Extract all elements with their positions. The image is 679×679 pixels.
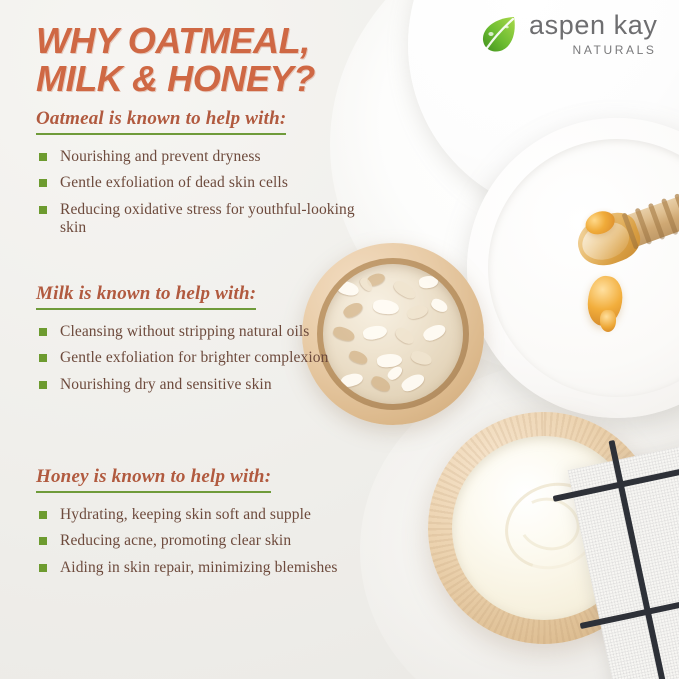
benefit-list-milk: Cleansing without stripping natural oils… — [36, 323, 366, 394]
list-item: Reducing oxidative stress for youthful-l… — [36, 201, 366, 238]
list-item-label: Reducing oxidative stress for youthful-l… — [60, 201, 355, 236]
list-item: Gentle exfoliation of dead skin cells — [36, 174, 366, 192]
list-item: Nourishing and prevent dryness — [36, 148, 366, 166]
list-item: Nourishing dry and sensitive skin — [36, 376, 366, 394]
list-item: Hydrating, keeping skin soft and supple — [36, 506, 366, 524]
bullet-square-icon — [39, 537, 47, 545]
leaf-icon — [478, 12, 522, 56]
page-title-line-2: MILK & HONEY? — [36, 60, 456, 98]
list-item-label: Gentle exfoliation of dead skin cells — [60, 174, 288, 191]
section-heading-oatmeal: Oatmeal is known to help with: — [36, 108, 286, 135]
list-item-label: Cleansing without stripping natural oils — [60, 323, 309, 340]
list-item: Reducing acne, promoting clear skin — [36, 532, 366, 550]
page-title-line-1: WHY OATMEAL, — [36, 22, 456, 60]
section-honey: Honey is known to help with: Hydrating, … — [36, 466, 366, 585]
section-heading-milk: Milk is known to help with: — [36, 283, 256, 310]
list-item: Gentle exfoliation for brighter complexi… — [36, 349, 366, 367]
list-item-label: Nourishing and prevent dryness — [60, 148, 261, 165]
infographic-canvas: WHY OATMEAL, MILK & HONEY? — [0, 0, 679, 679]
brand-name: aspen kay — [529, 12, 657, 39]
list-item-label: Hydrating, keeping skin soft and supple — [60, 506, 311, 523]
benefit-list-honey: Hydrating, keeping skin soft and supple … — [36, 506, 366, 577]
bullet-square-icon — [39, 179, 47, 187]
benefit-list-oatmeal: Nourishing and prevent dryness Gentle ex… — [36, 148, 366, 237]
section-milk: Milk is known to help with: Cleansing wi… — [36, 283, 366, 402]
list-item-label: Nourishing dry and sensitive skin — [60, 376, 272, 393]
brand-logo: aspen kay NATURALS — [478, 12, 657, 56]
bullet-square-icon — [39, 511, 47, 519]
section-heading-honey: Honey is known to help with: — [36, 466, 271, 493]
brand-wordmark: aspen kay NATURALS — [529, 12, 657, 56]
list-item-label: Reducing acne, promoting clear skin — [60, 532, 291, 549]
list-item-label: Gentle exfoliation for brighter complexi… — [60, 349, 328, 366]
content-layer: WHY OATMEAL, MILK & HONEY? — [0, 0, 679, 679]
list-item-label: Aiding in skin repair, minimizing blemis… — [60, 559, 337, 576]
bullet-square-icon — [39, 381, 47, 389]
page-title: WHY OATMEAL, MILK & HONEY? — [36, 22, 456, 98]
bullet-square-icon — [39, 153, 47, 161]
brand-tagline: NATURALS — [573, 44, 657, 56]
bullet-square-icon — [39, 206, 47, 214]
list-item: Cleansing without stripping natural oils — [36, 323, 366, 341]
list-item: Aiding in skin repair, minimizing blemis… — [36, 559, 366, 577]
bullet-square-icon — [39, 564, 47, 572]
bullet-square-icon — [39, 354, 47, 362]
section-oatmeal: Oatmeal is known to help with: Nourishin… — [36, 108, 366, 245]
bullet-square-icon — [39, 328, 47, 336]
